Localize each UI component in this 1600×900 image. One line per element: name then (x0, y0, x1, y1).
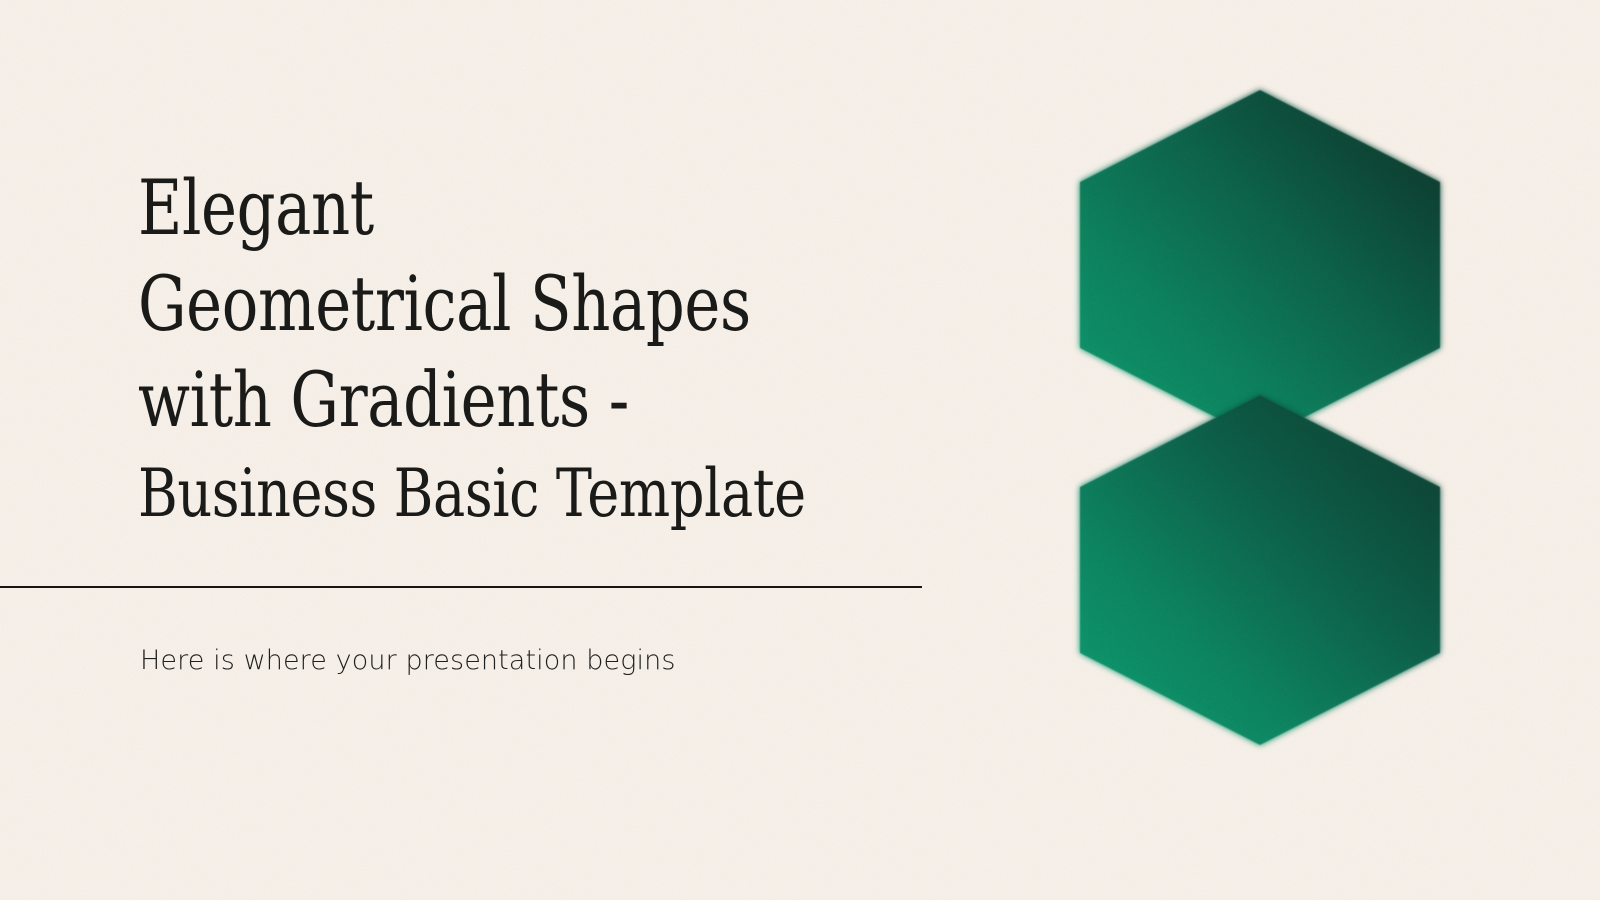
hexagon-top-svg (1080, 90, 1440, 440)
slide-subtitle: Here is where your presentation begins (140, 645, 675, 676)
title-divider-rule (0, 586, 922, 588)
slide-title: Elegant Geometrical Shapes with Gradient… (138, 160, 998, 540)
hexagon-bottom-shape (1080, 395, 1440, 745)
hexagon-decoration-group (1080, 70, 1480, 830)
title-line-3: with Gradients - (138, 352, 826, 448)
hexagon-top-shape (1080, 90, 1440, 440)
title-line-1: Elegant (138, 160, 826, 256)
title-line-4: Business Basic Template (138, 448, 843, 540)
title-line-2: Geometrical Shapes (138, 256, 826, 352)
presentation-slide: Elegant Geometrical Shapes with Gradient… (0, 0, 1600, 900)
hexagon-bottom-svg (1080, 395, 1440, 745)
